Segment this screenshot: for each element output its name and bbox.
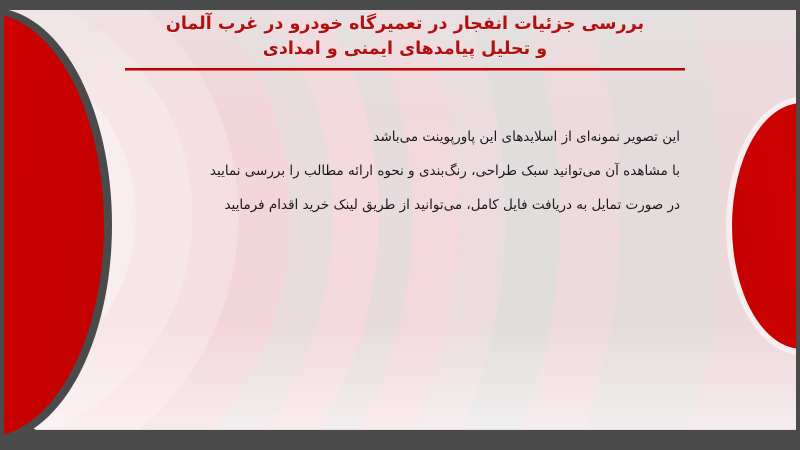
title-divider-rule bbox=[125, 68, 685, 71]
frame-border-bottom bbox=[0, 436, 800, 450]
frame-border-right bbox=[796, 0, 800, 450]
frame-border-top bbox=[0, 0, 800, 10]
body-line-2: با مشاهده آن می‌توانید سبک طراحی، رنگ‌بن… bbox=[120, 154, 680, 188]
presentation-slide: بررسی جزئیات انفجار در تعمیرگاه خودرو در… bbox=[0, 0, 800, 450]
slide-body-text: این تصویر نمونه‌ای از اسلایدهای این پاور… bbox=[120, 120, 680, 222]
body-line-1: این تصویر نمونه‌ای از اسلایدهای این پاور… bbox=[120, 120, 680, 154]
body-line-3: در صورت تمایل به دریافت فایل کامل، می‌تو… bbox=[120, 188, 680, 222]
frame-border-left bbox=[0, 0, 4, 450]
title-line-1: بررسی جزئیات انفجار در تعمیرگاه خودرو در… bbox=[110, 12, 700, 37]
slide-title: بررسی جزئیات انفجار در تعمیرگاه خودرو در… bbox=[110, 12, 700, 71]
title-line-2: و تحلیل پیامدهای ایمنی و امدادی bbox=[110, 37, 700, 62]
